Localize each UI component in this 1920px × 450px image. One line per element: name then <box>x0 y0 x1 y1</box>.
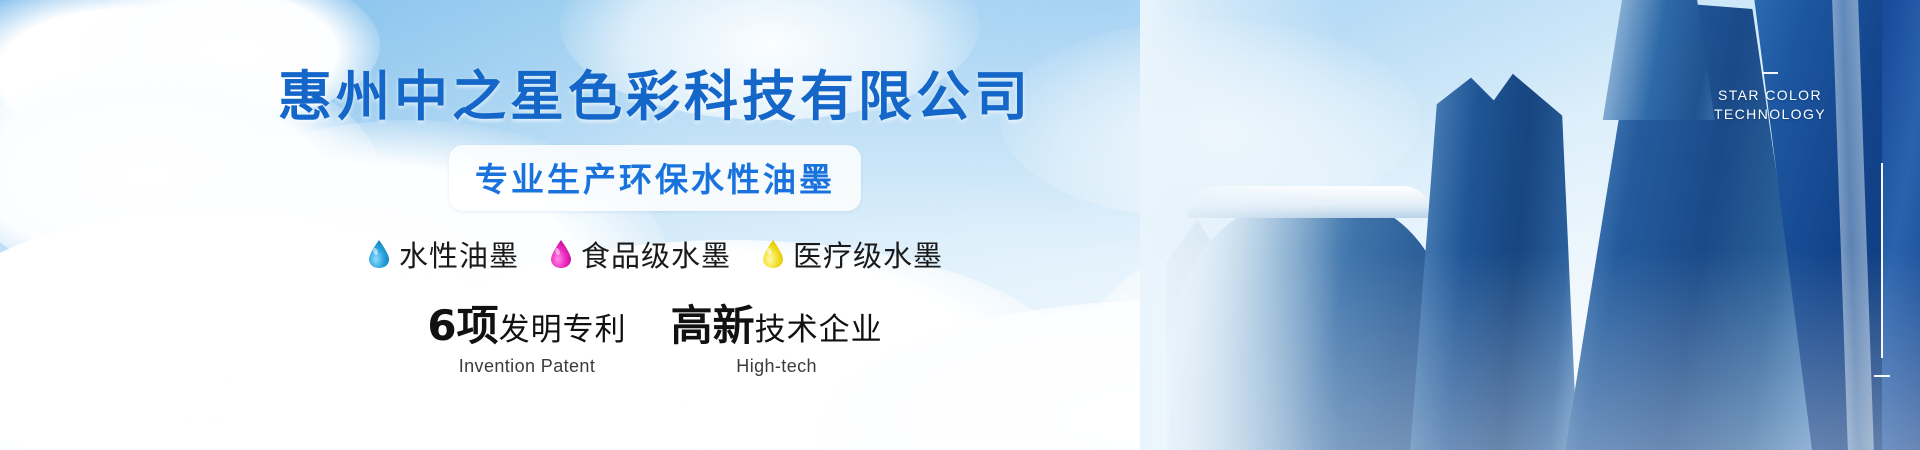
credential-highlight: 高新 <box>671 301 755 350</box>
credential-item: 高新技术企业 High-tech <box>671 305 883 377</box>
banner-content: 惠州中之星色彩科技有限公司 专业生产环保水性油墨 <box>0 0 1310 450</box>
water-drop-icon <box>367 239 391 269</box>
credential-headline: 6项发明专利 <box>427 305 626 347</box>
credentials-list: 6项发明专利 Invention Patent 高新技术企业 High-tech <box>427 305 882 377</box>
corner-rule-bottom <box>1874 375 1890 377</box>
tagline-badge: 专业生产环保水性油墨 <box>449 145 861 211</box>
feature-item: 医疗级水墨 <box>761 233 943 275</box>
corner-brand-mark: STAR COLOR TECHNOLOGY <box>1670 72 1870 124</box>
water-drop-icon <box>549 239 573 269</box>
water-drop-icon <box>761 239 785 269</box>
company-title: 惠州中之星色彩科技有限公司 <box>278 52 1032 131</box>
corner-brand-line1: STAR COLOR <box>1670 86 1870 105</box>
feature-item: 食品级水墨 <box>549 233 731 275</box>
tagline-text: 专业生产环保水性油墨 <box>475 153 835 201</box>
credential-headline: 高新技术企业 <box>671 305 883 347</box>
feature-label: 食品级水墨 <box>581 233 731 275</box>
credential-subtitle: High-tech <box>671 356 883 377</box>
credential-text: 技术企业 <box>755 312 883 348</box>
feature-list: 水性油墨 <box>367 233 943 275</box>
credential-item: 6项发明专利 Invention Patent <box>427 305 626 377</box>
credential-highlight: 6项 <box>427 301 498 350</box>
promo-banner: Star Color STAR COLOR TECHNOLOGY 惠州中之星色彩… <box>0 0 1920 450</box>
credential-text: 发明专利 <box>499 312 627 348</box>
credential-subtitle: Invention Patent <box>427 356 626 377</box>
corner-brand-line2: TECHNOLOGY <box>1670 105 1870 124</box>
feature-label: 医疗级水墨 <box>793 233 943 275</box>
corner-rule-top <box>1762 72 1778 74</box>
feature-item: 水性油墨 <box>367 233 519 275</box>
feature-label: 水性油墨 <box>399 233 519 275</box>
corner-vertical-rule <box>1881 163 1883 358</box>
